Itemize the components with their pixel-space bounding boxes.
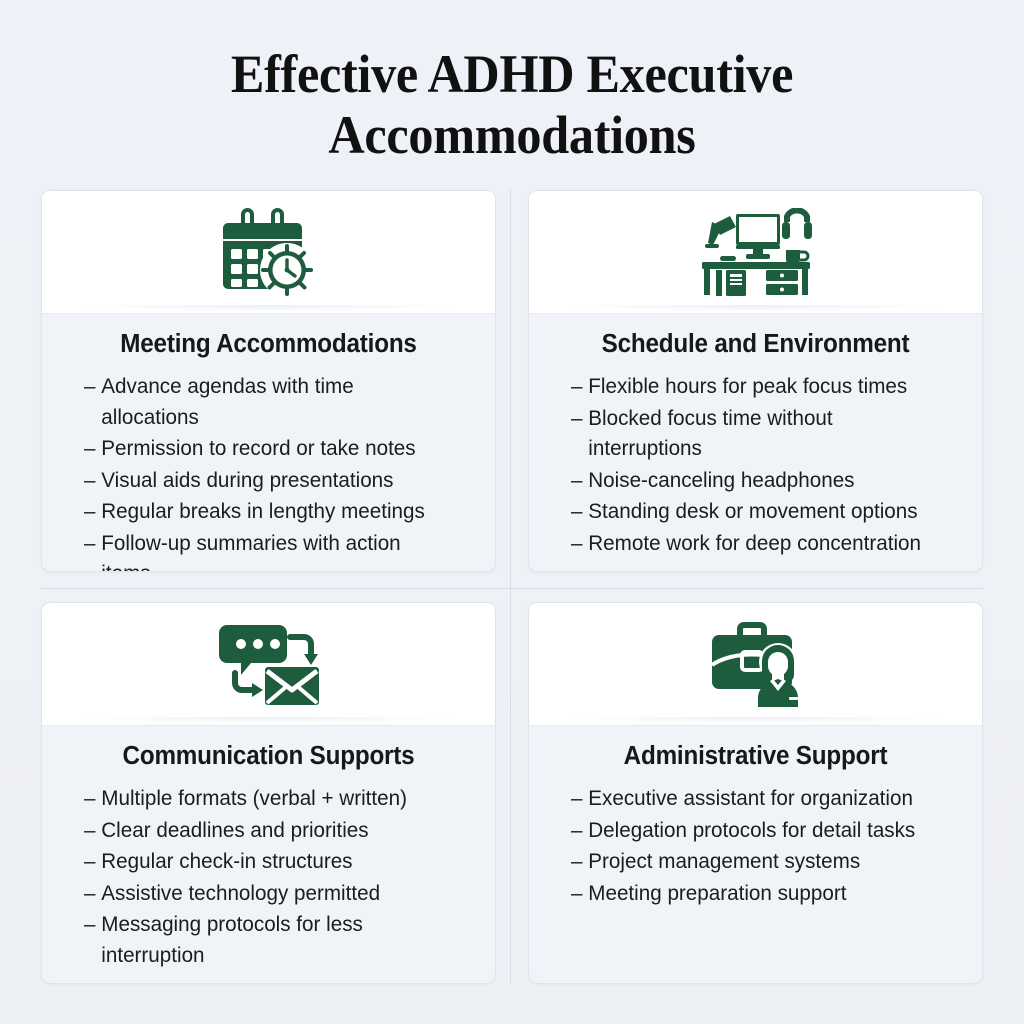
list-item: Advance agendas with time allocations [84, 371, 456, 432]
list-item: Clear deadlines and priorities [84, 815, 456, 846]
list-item: Assistive technology permitted [84, 878, 456, 909]
icon-panel [42, 603, 495, 726]
infographic-page: Effective ADHD Executive Accommodations [0, 0, 1024, 1024]
card-body: Communication Supports Multiple formats … [42, 726, 495, 981]
card-body: Meeting Accommodations Advance agendas w… [42, 314, 495, 572]
calendar-clock-icon [221, 208, 317, 296]
icon-panel [529, 603, 982, 726]
cards-grid: Meeting Accommodations Advance agendas w… [41, 190, 983, 984]
list-item: Executive assistant for organization [571, 783, 943, 814]
bullet-list: Executive assistant for organization Del… [549, 783, 962, 908]
list-item: Blocked focus time without interruptions [571, 403, 943, 464]
list-item: Regular check-in structures [84, 846, 456, 877]
card-body: Schedule and Environment Flexible hours … [529, 314, 982, 569]
card-title: Administrative Support [559, 742, 951, 771]
icon-panel [529, 191, 982, 314]
desk-workstation-icon [700, 208, 812, 296]
card-title: Schedule and Environment [559, 330, 951, 359]
card-title: Communication Supports [72, 742, 464, 771]
list-item: Standing desk or movement options [571, 496, 943, 527]
card-schedule-and-environment[interactable]: Schedule and Environment Flexible hours … [528, 190, 983, 572]
list-item: Meeting preparation support [571, 878, 943, 909]
list-item: Messaging protocols for less interruptio… [84, 909, 456, 970]
list-item: Delegation protocols for detail tasks [571, 815, 943, 846]
list-item: Project management systems [571, 846, 943, 877]
bullet-list: Flexible hours for peak focus times Bloc… [549, 371, 962, 558]
horizontal-divider [41, 588, 983, 589]
chat-envelope-icon [219, 621, 319, 707]
list-item: Remote work for deep concentration [571, 528, 943, 559]
list-item: Follow-up summaries with action items [84, 528, 456, 572]
list-item: Regular breaks in lengthy meetings [84, 496, 456, 527]
briefcase-assistant-icon [706, 621, 806, 707]
list-item: Permission to record or take notes [84, 433, 456, 464]
vertical-divider [510, 190, 511, 984]
card-administrative-support[interactable]: Administrative Support Executive assista… [528, 602, 983, 984]
icon-panel [42, 191, 495, 314]
card-meeting-accommodations[interactable]: Meeting Accommodations Advance agendas w… [41, 190, 496, 572]
title-block: Effective ADHD Executive Accommodations [0, 44, 1024, 166]
page-title: Effective ADHD Executive Accommodations [177, 44, 847, 166]
card-title: Meeting Accommodations [72, 330, 464, 359]
list-item: Noise-canceling headphones [571, 465, 943, 496]
list-item: Visual aids during presentations [84, 465, 456, 496]
card-body: Administrative Support Executive assista… [529, 726, 982, 919]
list-item: Flexible hours for peak focus times [571, 371, 943, 402]
list-item: Multiple formats (verbal + written) [84, 783, 456, 814]
bullet-list: Multiple formats (verbal + written) Clea… [62, 783, 475, 970]
bullet-list: Advance agendas with time allocations Pe… [62, 371, 475, 572]
card-communication-supports[interactable]: Communication Supports Multiple formats … [41, 602, 496, 984]
